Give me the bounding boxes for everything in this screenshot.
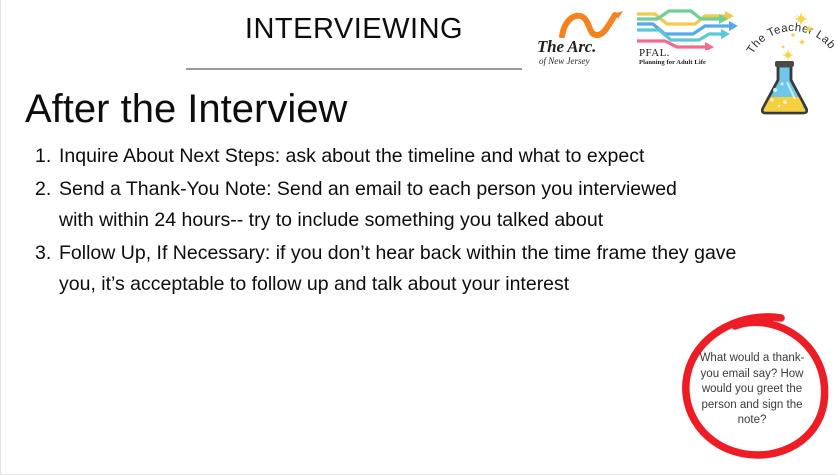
header-title: INTERVIEWING — [184, 14, 524, 46]
annotation-callout: What would a thank-you email say? How wo… — [673, 306, 837, 466]
teacher-lab-logo: The Teacher Lab — [745, 2, 837, 118]
list-item: 3. Follow Up, If Necessary: if you don’t… — [35, 238, 775, 300]
the-arc-logo: The Arc. of New Jersey — [537, 10, 629, 68]
teacher-lab-name: The Teacher Lab — [745, 22, 837, 56]
pfal-arrows-icon — [635, 8, 739, 50]
erlenmeyer-flask — [762, 61, 807, 113]
list-item-number: 1. — [35, 141, 55, 172]
steps-list: 1. Inquire About Next Steps: ask about t… — [35, 141, 775, 302]
list-item-number: 3. — [35, 238, 55, 269]
list-item: 1. Inquire About Next Steps: ask about t… — [35, 141, 775, 172]
slide-canvas: INTERVIEWING The Arc. of New Jersey — [0, 0, 837, 475]
arc-swoosh-icon — [559, 10, 625, 38]
list-item-text: Send a Thank-You Note: Send an email to … — [59, 174, 699, 236]
list-item: 2. Send a Thank-You Note: Send an email … — [35, 174, 775, 236]
teacher-lab-flask-icon: The Teacher Lab — [745, 2, 837, 118]
pfal-name: PFAL. — [639, 47, 670, 59]
list-item-number: 2. — [35, 174, 55, 205]
annotation-text: What would a thank-you email say? How wo… — [691, 351, 813, 429]
list-item-text: Inquire About Next Steps: ask about the … — [59, 141, 775, 172]
page-title: After the Interview — [25, 86, 347, 132]
pfal-subtitle: Planning for Adult Life — [639, 59, 706, 66]
list-item-text: Follow Up, If Necessary: if you don’t he… — [59, 238, 739, 300]
header-divider — [186, 68, 522, 70]
the-arc-subtitle: of New Jersey — [539, 56, 589, 66]
svg-text:The Teacher Lab: The Teacher Lab — [745, 22, 837, 56]
pfal-logo: PFAL. Planning for Adult Life — [635, 8, 739, 70]
the-arc-name: The Arc. — [537, 37, 596, 57]
